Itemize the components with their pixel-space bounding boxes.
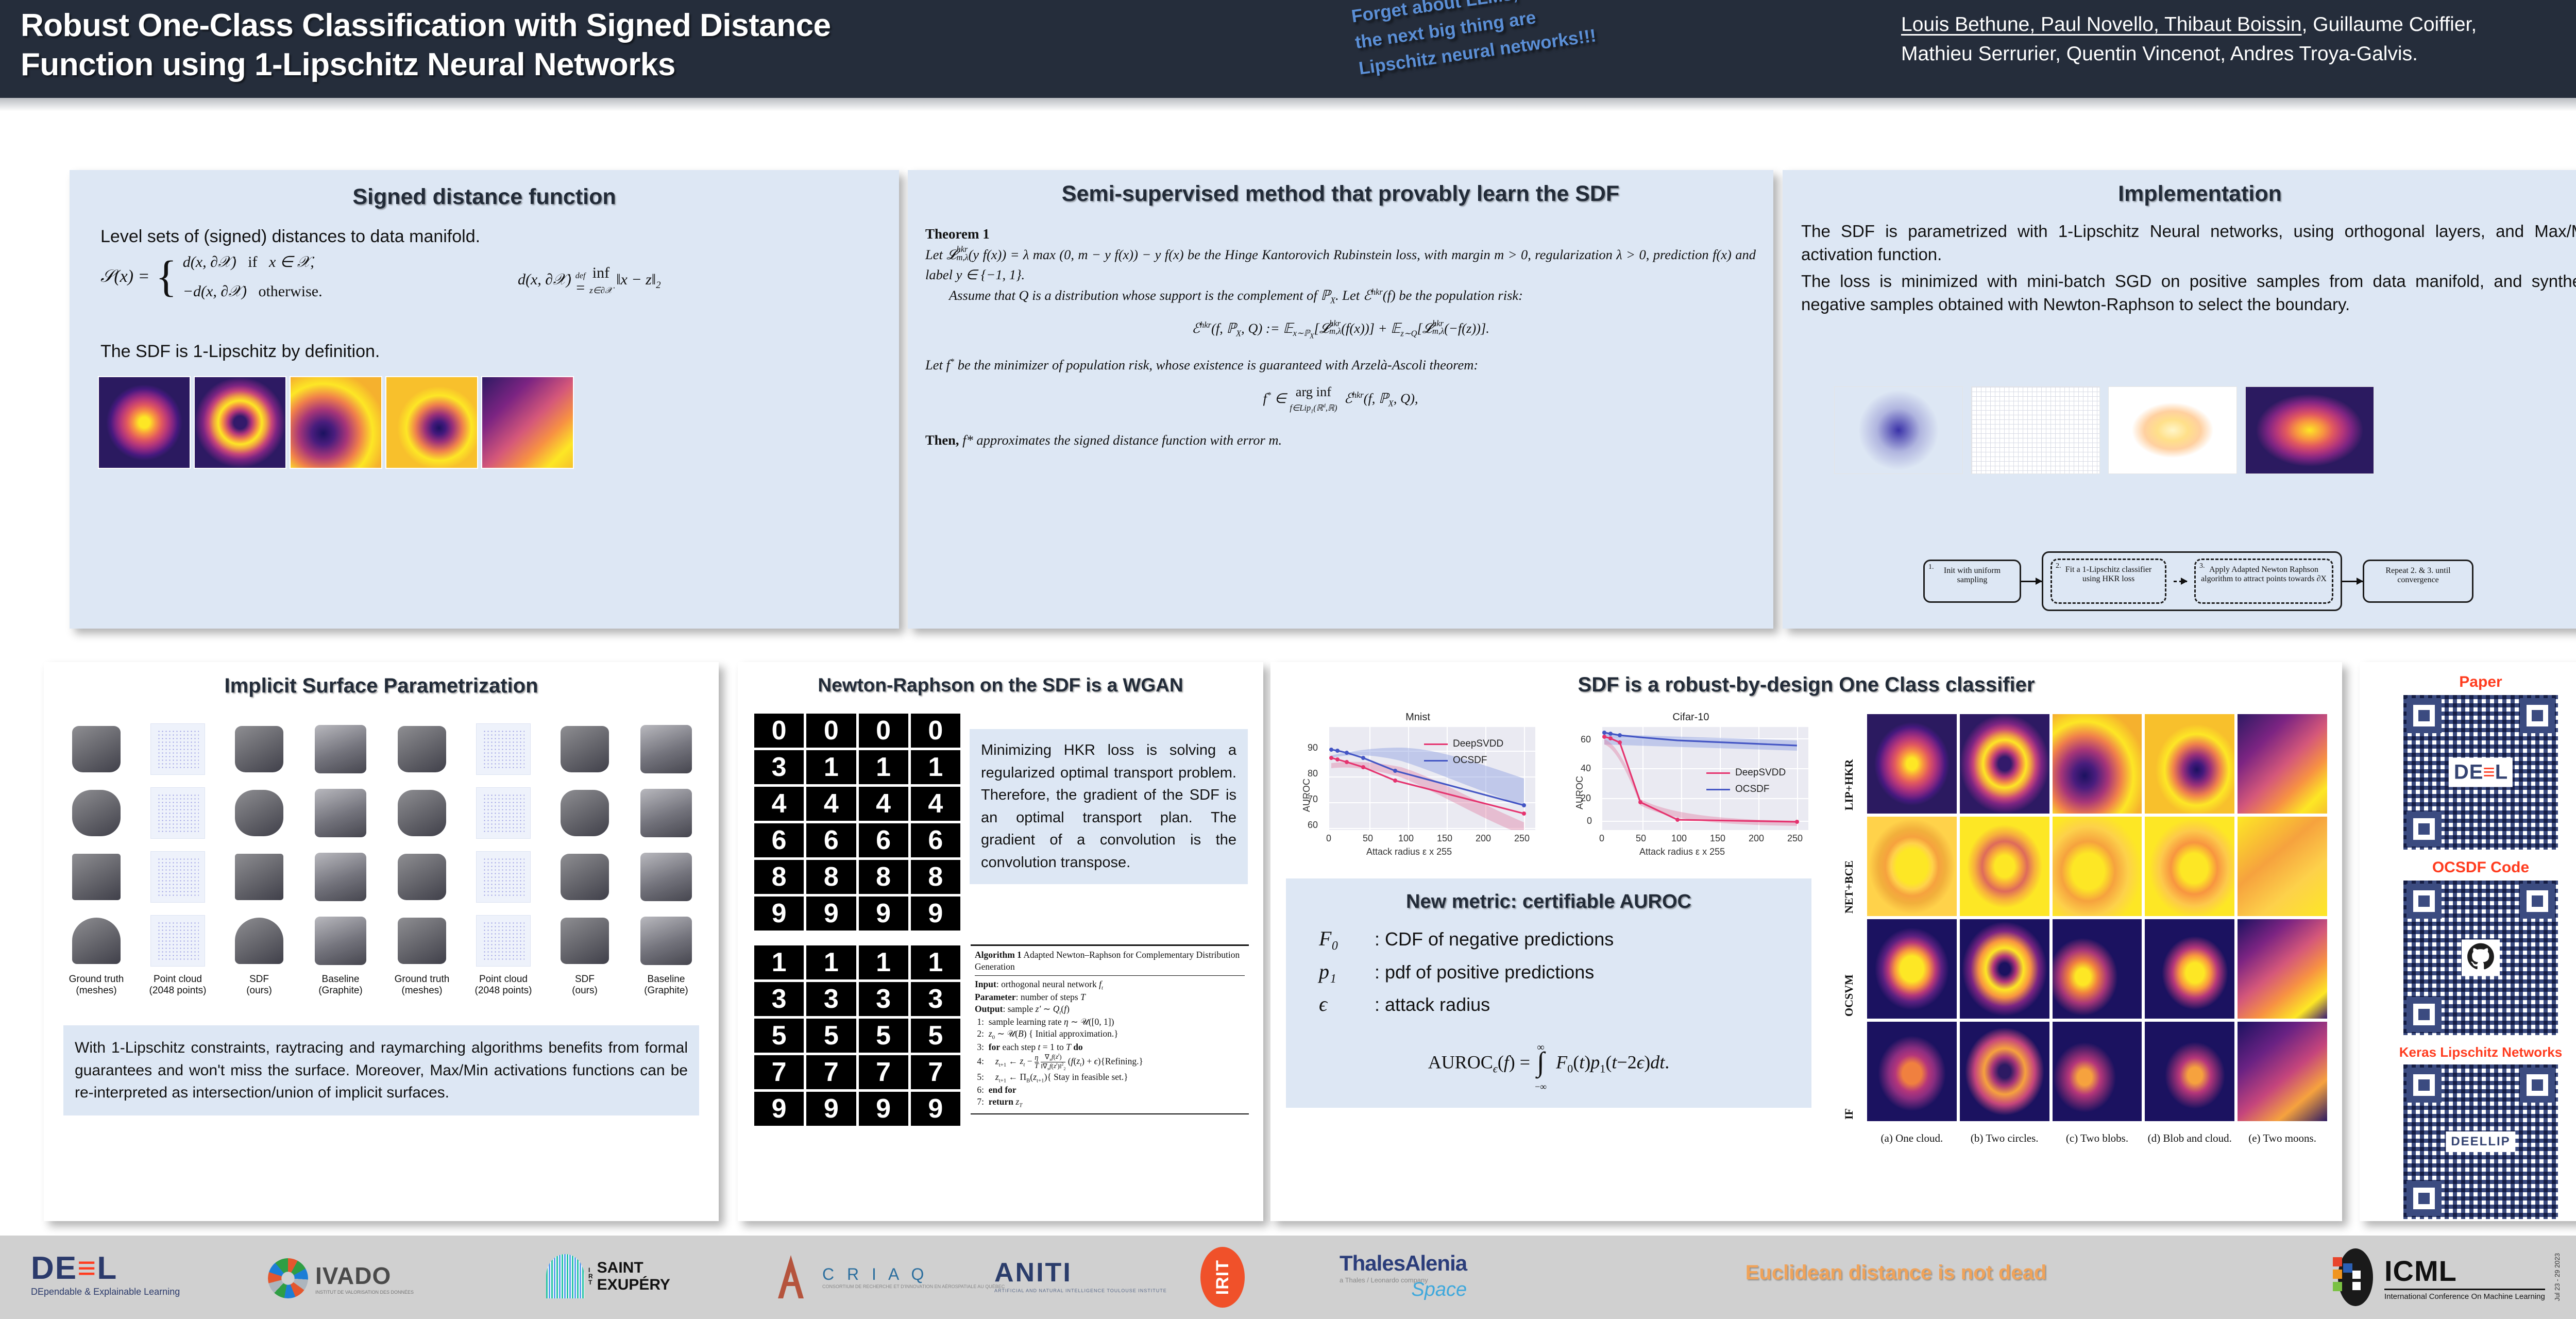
mesh-cell bbox=[547, 847, 623, 907]
chart-mnist-ytick: 90 bbox=[1308, 742, 1318, 753]
digit-cell: 3 bbox=[806, 982, 856, 1016]
digit-cell: 4 bbox=[911, 787, 960, 821]
digit-cell: 6 bbox=[911, 823, 960, 857]
panel-signed-distance-function: Signed distance function Level sets of (… bbox=[70, 170, 899, 629]
heat-cell bbox=[2237, 816, 2328, 917]
legend-label-ocsdf: OCSDF bbox=[1453, 755, 1487, 766]
chart-cifar-ylabel: AUROC bbox=[1574, 776, 1585, 809]
mesh-caption: Ground truth(meshes) bbox=[384, 974, 460, 996]
metric-def-row: F₀ : CDF of negative predictions bbox=[1319, 926, 1811, 952]
chart-cifar-ytick: 40 bbox=[1581, 763, 1591, 774]
digit-cell: 4 bbox=[806, 787, 856, 821]
chart-mnist-xlabel: Attack radius ε x 255 bbox=[1366, 847, 1452, 857]
sdf-tile-two-moons bbox=[481, 376, 574, 469]
impl-fig-warm-density bbox=[2108, 386, 2237, 474]
panel-sdf-intro: Level sets of (signed) distances to data… bbox=[100, 225, 899, 249]
chart-cifar-ytick: 0 bbox=[1587, 816, 1592, 826]
qr-finder-icon bbox=[2406, 997, 2442, 1032]
logo-deel-sub: DEpendable & Explainable Learning bbox=[31, 1287, 180, 1297]
digit-cell: 5 bbox=[754, 1019, 804, 1053]
mesh-cell bbox=[628, 719, 704, 780]
heat-cell bbox=[2144, 816, 2235, 917]
digit-cell: 9 bbox=[859, 897, 908, 931]
chart-mnist-ytick: 80 bbox=[1308, 768, 1318, 779]
heat-col-caption: (d) Blob and cloud. bbox=[2144, 1132, 2235, 1145]
legend-label-deepsvdd: DeepSVDD bbox=[1453, 738, 1503, 750]
mesh-cell bbox=[58, 910, 134, 971]
metric-title: New metric: certifiable AUROC bbox=[1286, 891, 1811, 913]
heat-cell bbox=[1959, 714, 2050, 814]
mesh-caption: SDF(ours) bbox=[547, 974, 623, 996]
panel-robust-title: SDF is a robust-by-design One Class clas… bbox=[1270, 673, 2342, 697]
qr-finder-icon bbox=[2520, 884, 2555, 919]
ivado-burst-icon bbox=[268, 1258, 308, 1298]
heat-cell bbox=[1867, 1021, 1957, 1122]
page-title: Robust One-Class Classification with Sig… bbox=[21, 6, 1257, 84]
heat-col-caption: (a) One cloud. bbox=[1867, 1132, 1957, 1145]
mesh-cell bbox=[302, 910, 379, 971]
chart-cifar-xtick: 200 bbox=[1749, 833, 1764, 844]
digit-cell: 6 bbox=[754, 823, 804, 857]
sdf-piecewise-equation: 𝒮(x) = { d(x, ∂𝒳) if x ∈ 𝒳, −d(x, ∂𝒳) ot… bbox=[100, 247, 461, 306]
theorem-para-2: Assume that Q is a distribution whose su… bbox=[925, 285, 1756, 307]
flow-step-1-text: Init with uniform sampling bbox=[1944, 566, 2001, 584]
theorem-para-3: Let f* be the minimizer of population ri… bbox=[925, 355, 1756, 376]
row-label-lip-hkr: LIP+HKR bbox=[1842, 728, 1856, 810]
theorem-eq-argmin: f* ∈ arg inff∈Lip1(ℝd,ℝ) ℰhkr(f, ℙX, Q), bbox=[925, 385, 1756, 415]
impl-fig-uniform-samples bbox=[1834, 386, 1963, 474]
flow-step-1: 1. Init with uniform sampling bbox=[1923, 560, 2021, 603]
mesh-cell bbox=[140, 847, 216, 907]
heatmap-row-labels: LIP+HKR NET+BCE OCSVM IF bbox=[1829, 714, 1866, 1167]
impl-fig-grid-samples bbox=[1971, 386, 2100, 474]
qr-label-keras-lipschitz: Keras Lipschitz Networks bbox=[2360, 1044, 2576, 1060]
digit-cell: 1 bbox=[911, 750, 960, 784]
mesh-cell bbox=[547, 719, 623, 780]
digit-cell: 1 bbox=[754, 945, 804, 979]
panel-implementation-title: Implementation bbox=[1783, 181, 2576, 207]
sdf-tile-two-circles bbox=[194, 376, 286, 469]
digit-cell: 8 bbox=[859, 860, 908, 894]
authors-rest: , Guillaume Coiffier, bbox=[2302, 13, 2477, 36]
qr-center-logo-deel: DE≡L bbox=[2449, 758, 2513, 787]
sdf-tile-one-cloud bbox=[98, 376, 191, 469]
panel-sdf-title: Signed distance function bbox=[70, 184, 899, 210]
heat-cell bbox=[2052, 919, 2143, 1019]
digit-cell: 8 bbox=[806, 860, 856, 894]
sdf-distance-definition: d(x, ∂𝒳) def= infz∈∂𝒳 ‖x − z‖2 bbox=[518, 265, 661, 296]
digit-cell: 8 bbox=[911, 860, 960, 894]
theorem-para-1: Let 𝓛hkrm,λ(y f(x)) = λ max (0, m − y f(… bbox=[925, 245, 1756, 286]
digit-cell: 9 bbox=[754, 1092, 804, 1126]
chart-mnist-xtick: 150 bbox=[1437, 833, 1452, 844]
digit-cell: 3 bbox=[754, 750, 804, 784]
digit-cell: 9 bbox=[859, 1092, 908, 1126]
panel-implicit-surface: Implicit Surface Parametrization bbox=[44, 662, 719, 1221]
flow-step-2: 2. Fit a 1-Lipschitz classifier using HK… bbox=[2050, 559, 2166, 604]
flow-step-3-number: 3. bbox=[2199, 562, 2205, 570]
qr-code-paper[interactable]: DE≡L bbox=[2403, 695, 2558, 850]
mesh-cell bbox=[58, 783, 134, 843]
chart-cifar-xtick: 0 bbox=[1599, 833, 1604, 844]
digit-cell: 8 bbox=[754, 860, 804, 894]
title-line-1: Robust One-Class Classification with Sig… bbox=[21, 6, 1257, 45]
logo-icml: ICML International Conference On Machine… bbox=[2329, 1247, 2576, 1308]
flow-step-3: 3. Apply Adapted Newton Raphson algorith… bbox=[2194, 559, 2333, 604]
flow-step-repeat-text: Repeat 2. & 3. until convergence bbox=[2385, 566, 2450, 584]
digit-cell: 6 bbox=[806, 823, 856, 857]
mesh-cell bbox=[140, 719, 216, 780]
algorithm-step: 2: z0 ∼ 𝒰(B) { Initial approximation.} bbox=[975, 1028, 1245, 1041]
metric-definitions: F₀ : CDF of negative predictions p₁ : pd… bbox=[1319, 926, 1811, 1018]
digit-cell: 7 bbox=[911, 1055, 960, 1089]
legend-label-deepsvdd-2: DeepSVDD bbox=[1735, 767, 1786, 779]
heat-cell bbox=[1959, 816, 2050, 917]
heat-col-caption: (e) Two moons. bbox=[2237, 1132, 2328, 1145]
row-label-ocsvm: OCSVM bbox=[1842, 934, 1856, 1017]
qr-center-logo-deellip: DEELLIP bbox=[2446, 1131, 2515, 1152]
mesh-cell bbox=[221, 910, 297, 971]
mnist-digit-grid-bottom: 1111 3333 5555 7777 9999 bbox=[754, 945, 960, 1126]
icml-mark-icon bbox=[2329, 1247, 2376, 1308]
algorithm-header: Algorithm 1 Adapted Newton–Raphson for C… bbox=[975, 949, 1245, 973]
chart-mnist-xtick: 50 bbox=[1363, 833, 1373, 844]
panel-newton-title: Newton-Raphson on the SDF is a WGAN bbox=[738, 674, 1263, 696]
metric-symbol: ϵ bbox=[1319, 992, 1355, 1016]
implementation-para-2: The loss is minimized with mini-batch SG… bbox=[1801, 270, 2576, 316]
header-shadow bbox=[0, 98, 2576, 111]
metric-def-row: p₁ : pdf of positive predictions bbox=[1319, 959, 1811, 985]
flow-group-2-3: 2. Fit a 1-Lipschitz classifier using HK… bbox=[2042, 551, 2342, 611]
github-icon bbox=[2462, 940, 2500, 976]
panel-theorem-title: Semi-supervised method that provably lea… bbox=[908, 181, 1773, 207]
algorithm-header-bold: Algorithm 1 bbox=[975, 950, 1022, 960]
chart-mnist-plot bbox=[1329, 727, 1535, 830]
implementation-para-1: The SDF is parametrized with 1-Lipschitz… bbox=[1801, 220, 2576, 266]
digit-cell: 3 bbox=[911, 982, 960, 1016]
mesh-cell bbox=[628, 910, 704, 971]
digit-cell: 1 bbox=[859, 945, 908, 979]
digit-cell: 1 bbox=[806, 945, 856, 979]
theorem-conclusion-rest: f* approximates the signed distance func… bbox=[959, 432, 1282, 448]
legend-swatch-ocsdf bbox=[1424, 760, 1448, 762]
digit-cell: 9 bbox=[754, 897, 804, 931]
heat-cell bbox=[1867, 714, 1957, 814]
digit-cell: 0 bbox=[859, 714, 908, 748]
heat-cell bbox=[2052, 1021, 2143, 1122]
heat-cell bbox=[1959, 1021, 2050, 1122]
legend-swatch-ocsdf-2 bbox=[1706, 789, 1730, 790]
metric-equation: AUROCϵ(f) = ∞ ∫ −∞ F0(t)p1(t−2ϵ)dt. bbox=[1286, 1035, 1811, 1093]
newton-note-box: Minimizing HKR loss is solving a regular… bbox=[970, 729, 1248, 884]
metric-desc: : pdf of positive predictions bbox=[1375, 960, 1594, 985]
logo-aniti-name: ANITI bbox=[994, 1257, 1167, 1288]
implementation-figure-row bbox=[1834, 386, 2374, 474]
algorithm-step: 7: return zT bbox=[975, 1096, 1245, 1109]
algorithm-step: 1: sample learning rate η ∼ 𝒰([0, 1]) bbox=[975, 1016, 1245, 1028]
digit-cell: 7 bbox=[806, 1055, 856, 1089]
heat-cell bbox=[2237, 1021, 2328, 1122]
chart-mnist-title: Mnist bbox=[1289, 712, 1547, 723]
mesh-caption: Baseline(Graphite) bbox=[302, 974, 379, 996]
qr-finder-icon bbox=[2406, 884, 2442, 919]
heat-cell bbox=[2237, 919, 2328, 1019]
qr-label-paper: Paper bbox=[2360, 673, 2576, 691]
mesh-cell bbox=[384, 910, 460, 971]
logo-aniti-sub: ARTIFICIAL AND NATURAL INTELLIGENCE TOUL… bbox=[994, 1288, 1167, 1293]
mesh-cell bbox=[547, 910, 623, 971]
algorithm-output: Output: sample z′ ∼ Qt(f) bbox=[975, 1003, 1245, 1017]
chart-cifar-ytick: 60 bbox=[1581, 734, 1591, 745]
certifiable-auroc-box: New metric: certifiable AUROC F₀ : CDF o… bbox=[1286, 878, 1811, 1108]
theorem-conclusion: Then, f* approximates the signed distanc… bbox=[925, 430, 1756, 451]
icml-date-side: Jul 23 - 29 2023 bbox=[2553, 1253, 2561, 1301]
flow-arrow-2 bbox=[2174, 581, 2187, 582]
heat-cell bbox=[1867, 919, 1957, 1019]
chart-mnist-xtick: 100 bbox=[1398, 833, 1414, 844]
mesh-caption: SDF(ours) bbox=[221, 974, 297, 996]
mesh-figure-grid bbox=[58, 719, 704, 971]
logo-icml-sub: International Conference On Machine Lear… bbox=[2384, 1292, 2545, 1301]
mesh-caption: Ground truth(meshes) bbox=[58, 974, 134, 996]
panel-qr-codes: Paper DE≡L OCSDF Code Keras Lipschitz Ne… bbox=[2360, 662, 2576, 1221]
chart-cifar-title: Cifar-10 bbox=[1562, 712, 1820, 723]
poster-root: Robust One-Class Classification with Sig… bbox=[0, 0, 2576, 1319]
heat-cell bbox=[2144, 919, 2235, 1019]
algorithm-step: 5: zt+1 ← ΠB(zt+1){ Stay in feasible set… bbox=[975, 1071, 1245, 1085]
impl-fig-learned-sdf bbox=[2245, 386, 2374, 474]
mesh-cell bbox=[465, 783, 541, 843]
chart-cifar-xtick: 50 bbox=[1636, 833, 1646, 844]
mesh-caption-row: Ground truth(meshes) Point cloud(2048 po… bbox=[58, 974, 704, 996]
logo-ivado-name: IVADO bbox=[315, 1262, 414, 1290]
qr-finder-icon bbox=[2406, 1181, 2442, 1216]
mesh-cell bbox=[628, 783, 704, 843]
digit-cell: 9 bbox=[911, 897, 960, 931]
mesh-cell bbox=[221, 719, 297, 780]
row-label-if: IF bbox=[1842, 1037, 1856, 1120]
panel-sdf-closing: The SDF is 1-Lipschitz by definition. bbox=[100, 340, 380, 364]
qr-finder-icon bbox=[2520, 1068, 2555, 1103]
mesh-cell bbox=[465, 847, 541, 907]
heatmap-col-captions: (a) One cloud. (b) Two circles. (c) Two … bbox=[1867, 1132, 2328, 1145]
sdf-tile-blob-and-cloud bbox=[385, 376, 478, 469]
author-line-2: Mathieu Serrurier, Quentin Vincenot, And… bbox=[1901, 40, 2576, 69]
flow-arrow-3 bbox=[2342, 581, 2363, 582]
metric-symbol: p₁ bbox=[1319, 959, 1355, 984]
digit-cell: 5 bbox=[911, 1019, 960, 1053]
mesh-cell bbox=[465, 719, 541, 780]
heat-cell bbox=[2052, 816, 2143, 917]
algorithm-parameter: Parameter: number of steps T bbox=[975, 991, 1245, 1003]
digit-cell: 4 bbox=[754, 787, 804, 821]
metric-def-row: ϵ : attack radius bbox=[1319, 992, 1811, 1018]
author-line-1: Louis Bethune, Paul Novello, Thibaut Boi… bbox=[1901, 10, 2576, 40]
sdf-level-set-strip bbox=[98, 376, 574, 469]
qr-finder-icon bbox=[2520, 698, 2555, 733]
flow-step-2-text: Fit a 1-Lipschitz classifier using HKR l… bbox=[2065, 565, 2152, 583]
mesh-cell bbox=[221, 783, 297, 843]
mesh-cell bbox=[384, 847, 460, 907]
mesh-cell bbox=[221, 847, 297, 907]
metric-symbol: F₀ bbox=[1319, 926, 1355, 951]
logo-irit: IRIT bbox=[1200, 1247, 1245, 1308]
digit-cell: 0 bbox=[754, 714, 804, 748]
title-line-2: Function using 1-Lipschitz Neural Networ… bbox=[21, 45, 1257, 84]
qr-code-ocsdf[interactable] bbox=[2403, 881, 2558, 1035]
algorithm-input: Input: orthogonal neural network ft bbox=[975, 978, 1245, 992]
digit-cell: 7 bbox=[754, 1055, 804, 1089]
flow-step-repeat: Repeat 2. & 3. until convergence bbox=[2363, 560, 2473, 603]
digit-cell: 6 bbox=[859, 823, 908, 857]
implicit-note-text: With 1-Lipschitz constraints, raytracing… bbox=[75, 1037, 688, 1104]
mesh-cell bbox=[58, 719, 134, 780]
authors-underlined: Louis Bethune, Paul Novello, Thibaut Boi… bbox=[1901, 13, 2302, 36]
criaq-arch-icon bbox=[768, 1253, 814, 1300]
algorithm-step: 4: zt+1 ← zt − ηT ∇xf(zt)‖∇xf(zt)‖22 (f(… bbox=[975, 1053, 1245, 1071]
mesh-cell bbox=[302, 719, 379, 780]
panel-implicit-title: Implicit Surface Parametrization bbox=[44, 674, 719, 698]
algorithm-step: 6: end for bbox=[975, 1084, 1245, 1096]
heat-cell bbox=[2052, 714, 2143, 814]
logo-aniti: ANITI ARTIFICIAL AND NATURAL INTELLIGENC… bbox=[994, 1257, 1167, 1293]
row-label-net-bce: NET+BCE bbox=[1842, 831, 1856, 914]
poster-header: Robust One-Class Classification with Sig… bbox=[0, 0, 2576, 98]
chart-cifar-plot bbox=[1602, 727, 1808, 830]
flow-arrow-1 bbox=[2021, 581, 2042, 582]
algorithm-box: Algorithm 1 Adapted Newton–Raphson for C… bbox=[971, 944, 1249, 1114]
panel-implementation: Implementation The SDF is parametrized w… bbox=[1783, 170, 2576, 629]
irt-arc-icon bbox=[546, 1254, 584, 1298]
mesh-cell bbox=[302, 783, 379, 843]
header-joke-tagline: Forget about LLMs, the next big thing ar… bbox=[1350, 0, 1728, 82]
theorem-eq-risk: ℰhkr(f, ℙX, Q) := 𝔼x∼ℙX[𝓛hkrm,λ(f(x))] +… bbox=[925, 318, 1756, 342]
flow-step-2-number: 2. bbox=[2056, 562, 2061, 570]
digit-cell: 4 bbox=[859, 787, 908, 821]
chart-mnist: Mnist 90 bbox=[1289, 712, 1547, 861]
newton-note-text: Minimizing HKR loss is solving a regular… bbox=[981, 739, 1236, 874]
logo-deel: DE≡L DEpendable & Explainable Learning bbox=[31, 1250, 180, 1297]
digit-cell: 7 bbox=[859, 1055, 908, 1089]
qr-label-ocsdf-code: OCSDF Code bbox=[2360, 859, 2576, 876]
implicit-note-box: With 1-Lipschitz constraints, raytracing… bbox=[63, 1025, 699, 1115]
heat-cell bbox=[1959, 919, 2050, 1019]
legend-label-ocsdf-2: OCSDF bbox=[1735, 784, 1770, 795]
digit-cell: 1 bbox=[806, 750, 856, 784]
qr-finder-icon bbox=[2406, 1068, 2442, 1103]
mesh-caption: Point cloud(2048 points) bbox=[465, 974, 541, 996]
digit-cell: 3 bbox=[859, 982, 908, 1016]
digit-cell: 9 bbox=[806, 897, 856, 931]
heat-col-caption: (b) Two circles. bbox=[1959, 1132, 2050, 1145]
digit-cell: 5 bbox=[806, 1019, 856, 1053]
legend-swatch-deepsvdd-2 bbox=[1706, 772, 1730, 774]
footer-tagline: Euclidean distance is not dead bbox=[1638, 1261, 2154, 1284]
mesh-caption: Point cloud(2048 points) bbox=[140, 974, 216, 996]
implementation-flowchart: 1. Init with uniform sampling 2. Fit a 1… bbox=[1825, 551, 2572, 611]
author-list: Louis Bethune, Paul Novello, Thibaut Boi… bbox=[1901, 10, 2576, 69]
digit-cell: 9 bbox=[911, 1092, 960, 1126]
logo-irt-saint-exupery: IRT SAINT EXUPÉRY bbox=[546, 1254, 670, 1298]
mesh-cell bbox=[384, 719, 460, 780]
logo-ivado-sub: INSTITUT DE VALORISATION DES DONNÉES bbox=[315, 1290, 414, 1295]
heat-col-caption: (c) Two blobs. bbox=[2052, 1132, 2143, 1145]
mesh-cell bbox=[140, 910, 216, 971]
heat-cell bbox=[2144, 714, 2235, 814]
flow-step-1-number: 1. bbox=[1928, 563, 1934, 571]
chart-cifar10: Cifar-10 60 bbox=[1562, 712, 1820, 861]
panel-theorem: Semi-supervised method that provably lea… bbox=[908, 170, 1773, 629]
chart-cifar-xtick: 250 bbox=[1787, 833, 1803, 844]
theorem-label: Theorem 1 bbox=[925, 224, 1756, 245]
mesh-cell bbox=[384, 783, 460, 843]
heat-cell bbox=[2237, 714, 2328, 814]
digit-cell: 3 bbox=[754, 982, 804, 1016]
qr-code-keras-lipschitz[interactable]: DEELLIP bbox=[2403, 1064, 2558, 1219]
heatmap-section: LIP+HKR NET+BCE OCSVM IF bbox=[1829, 714, 2332, 1167]
heat-cell bbox=[2144, 1021, 2235, 1122]
chart-cifar-xtick: 100 bbox=[1671, 833, 1687, 844]
digit-cell: 0 bbox=[806, 714, 856, 748]
digit-cell: 5 bbox=[859, 1019, 908, 1053]
mesh-caption: Baseline(Graphite) bbox=[628, 974, 704, 996]
heat-cell bbox=[1867, 816, 1957, 917]
logo-criaq: C R I A Q CONSORTIUM DE RECHERCHE ET D'I… bbox=[768, 1253, 1005, 1300]
chart-cifar-xlabel: Attack radius ε x 255 bbox=[1639, 847, 1725, 857]
panel-newton-raphson: Newton-Raphson on the SDF is a WGAN 0000… bbox=[738, 662, 1263, 1221]
digit-cell: 1 bbox=[859, 750, 908, 784]
mesh-cell bbox=[58, 847, 134, 907]
heatmap-grid bbox=[1867, 714, 2328, 1122]
digit-cell: 0 bbox=[911, 714, 960, 748]
logo-ivado: IVADO INSTITUT DE VALORISATION DES DONNÉ… bbox=[268, 1258, 414, 1298]
mnist-digit-grid-top: 0000 3111 4444 6666 8888 9999 bbox=[754, 714, 960, 931]
metric-desc: : attack radius bbox=[1375, 992, 1490, 1018]
flow-step-3-text: Apply Adapted Newton Raphson algorithm t… bbox=[2201, 565, 2327, 583]
legend-swatch-deepsvdd bbox=[1424, 743, 1448, 745]
digit-cell: 9 bbox=[806, 1092, 856, 1126]
chart-mnist-xtick: 250 bbox=[1514, 833, 1530, 844]
mesh-cell bbox=[628, 847, 704, 907]
mesh-cell bbox=[140, 783, 216, 843]
chart-cifar-xtick: 150 bbox=[1710, 833, 1725, 844]
theorem-conclusion-bold: Then, bbox=[925, 432, 959, 448]
mesh-cell bbox=[547, 783, 623, 843]
panel-robust-classifier: SDF is a robust-by-design One Class clas… bbox=[1270, 662, 2342, 1221]
logo-thales-alenia-space: ThalesAlenia a Thales / Leonardo company… bbox=[1340, 1251, 1467, 1301]
sdf-tile-two-blobs bbox=[290, 376, 382, 469]
digit-cell: 1 bbox=[911, 945, 960, 979]
chart-mnist-ytick: 60 bbox=[1308, 820, 1318, 831]
qr-finder-icon bbox=[2406, 698, 2442, 733]
logo-icml-name: ICML bbox=[2384, 1254, 2545, 1288]
poster-footer: DE≡L DEpendable & Explainable Learning I… bbox=[0, 1236, 2576, 1319]
algorithm-step: 3: for each step t = 1 to T do bbox=[975, 1041, 1245, 1053]
metric-desc: : CDF of negative predictions bbox=[1375, 927, 1614, 952]
chart-mnist-ylabel: AUROC bbox=[1301, 779, 1312, 812]
chart-mnist-xtick: 200 bbox=[1476, 833, 1491, 844]
logo-irit-name: IRIT bbox=[1213, 1260, 1233, 1295]
mesh-cell bbox=[465, 910, 541, 971]
chart-mnist-xtick: 0 bbox=[1326, 833, 1331, 844]
qr-finder-icon bbox=[2406, 811, 2442, 847]
mesh-cell bbox=[302, 847, 379, 907]
